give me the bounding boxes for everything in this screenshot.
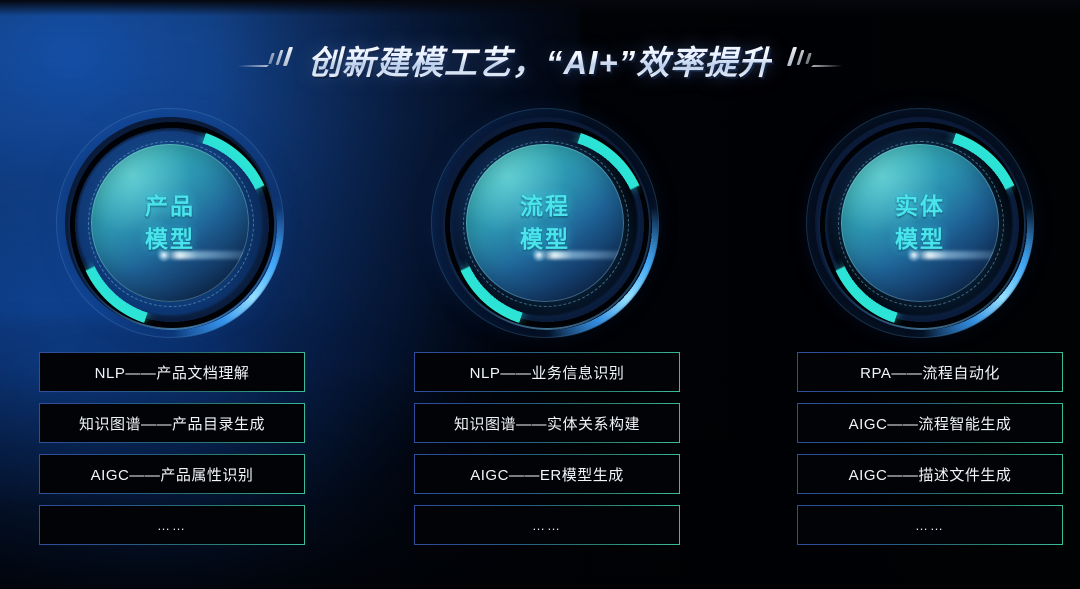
background-top-fade [0, 0, 1080, 16]
page-title: 创新建模工艺，“AI+”效率提升 [308, 36, 772, 84]
sphere: 流程 模型 [466, 144, 624, 302]
list-item[interactable]: AIGC——产品属性识别 [39, 454, 305, 494]
column-product-model: NLP——产品文档理解 知识图谱——产品目录生成 AIGC——产品属性识别 …… [39, 352, 305, 556]
title-row: 创新建模工艺，“AI+”效率提升 [0, 34, 1080, 86]
list-item[interactable]: 知识图谱——产品目录生成 [39, 403, 305, 443]
item-label: AIGC——描述文件生成 [849, 464, 1012, 485]
list-item[interactable]: 知识图谱——实体关系构建 [414, 403, 680, 443]
list-item[interactable]: AIGC——描述文件生成 [797, 454, 1063, 494]
list-item[interactable]: AIGC——流程智能生成 [797, 403, 1063, 443]
circle-label-line1: 产品 [145, 190, 195, 223]
item-label: 知识图谱——产品目录生成 [79, 413, 265, 434]
item-label: 知识图谱——实体关系构建 [454, 413, 640, 434]
list-item[interactable]: NLP——产品文档理解 [39, 352, 305, 392]
list-item[interactable]: …… [39, 505, 305, 545]
list-item[interactable]: AIGC——ER模型生成 [414, 454, 680, 494]
item-label: AIGC——ER模型生成 [470, 464, 624, 485]
circle-label: 流程 模型 [520, 190, 570, 255]
circle-label: 产品 模型 [145, 190, 195, 255]
circle-entity-model[interactable]: 实体 模型 [806, 108, 1034, 338]
title-decoration-right-icon [786, 45, 844, 75]
circle-process-model[interactable]: 流程 模型 [431, 108, 659, 338]
circle-label-line2: 模型 [520, 223, 570, 256]
item-label: RPA——流程自动化 [860, 362, 1000, 383]
item-label: NLP——产品文档理解 [95, 362, 250, 383]
column-entity-model: RPA——流程自动化 AIGC——流程智能生成 AIGC——描述文件生成 …… [797, 352, 1063, 556]
item-label: NLP——业务信息识别 [470, 362, 625, 383]
list-item[interactable]: NLP——业务信息识别 [414, 352, 680, 392]
list-item[interactable]: RPA——流程自动化 [797, 352, 1063, 392]
list-item[interactable]: …… [414, 505, 680, 545]
circle-label-line1: 流程 [520, 190, 570, 223]
item-label: …… [915, 518, 945, 533]
circle-label: 实体 模型 [895, 190, 945, 255]
list-item[interactable]: …… [797, 505, 1063, 545]
sphere: 实体 模型 [841, 144, 999, 302]
column-process-model: NLP——业务信息识别 知识图谱——实体关系构建 AIGC——ER模型生成 …… [414, 352, 680, 556]
circle-label-line1: 实体 [895, 190, 945, 223]
title-decoration-left-icon [236, 45, 294, 75]
item-label: …… [157, 518, 187, 533]
item-label: AIGC——产品属性识别 [91, 464, 254, 485]
item-label: AIGC——流程智能生成 [849, 413, 1012, 434]
item-columns: NLP——产品文档理解 知识图谱——产品目录生成 AIGC——产品属性识别 ……… [0, 352, 1080, 552]
circle-group: 产品 模型 流程 模型 [0, 108, 1080, 340]
circle-product-model[interactable]: 产品 模型 [56, 108, 284, 338]
circle-label-line2: 模型 [895, 223, 945, 256]
sphere: 产品 模型 [91, 144, 249, 302]
item-label: …… [532, 518, 562, 533]
slide-canvas: 创新建模工艺，“AI+”效率提升 产品 模型 [0, 0, 1080, 589]
circle-label-line2: 模型 [145, 223, 195, 256]
